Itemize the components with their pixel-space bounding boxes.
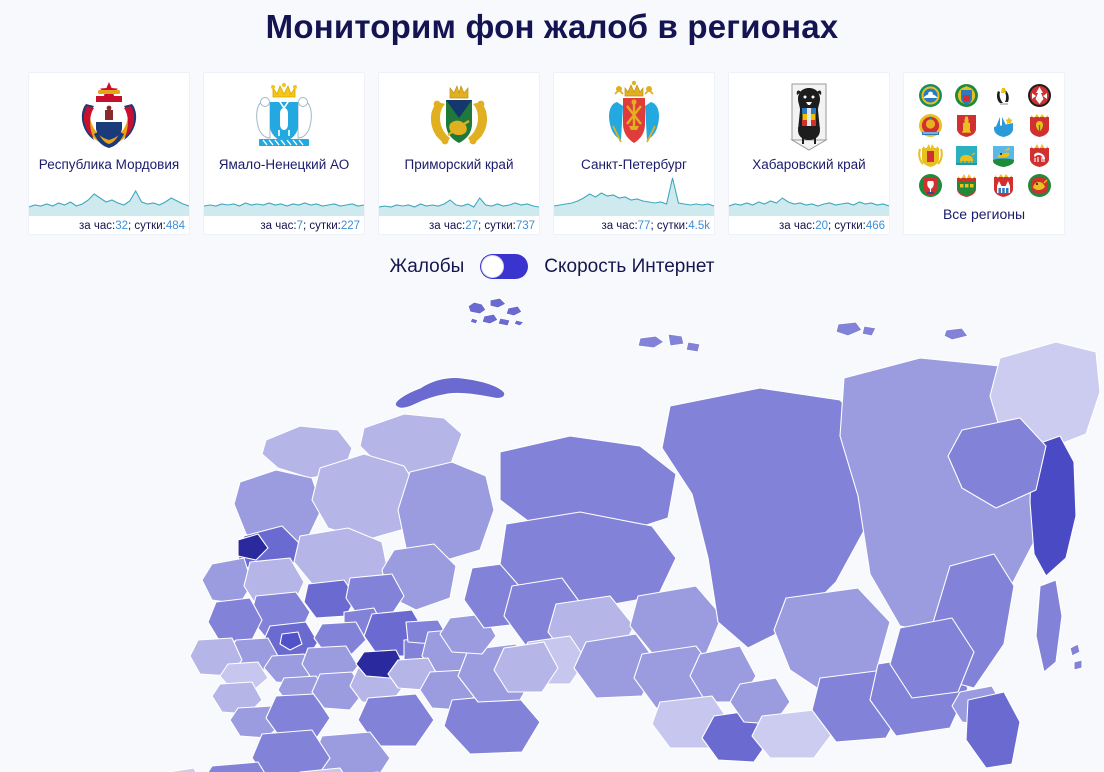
region-card-khabarovsk[interactable]: Хабаровский край за час:20; сутки:466 [728,72,890,235]
stats-hour-label: за час: [79,220,115,232]
all-regions-emblem-grid [914,82,1056,198]
region-card-yanao[interactable]: Ямало-Ненецкий АО за час:7; сутки:227 [203,72,365,235]
sparkline-chart [554,176,714,216]
region-card-stats: за час:7; сутки:227 [260,219,360,234]
sparkline-chart [379,176,539,216]
map-region-primorsky-krai[interactable] [966,692,1020,768]
stats-hour-value: 32 [115,220,128,232]
coat-of-arms-spb-icon [554,79,714,153]
map-region-kuril-islands[interactable] [1070,644,1082,670]
coat-of-arms-murmansk-icon[interactable] [987,112,1020,138]
region-card-primorsky[interactable]: Приморский край за час:27; сутки:737 [378,72,540,235]
coat-of-arms-belgorod-icon[interactable] [987,142,1020,168]
map-region-wrangel[interactable] [944,328,968,340]
page-title: Мониторим фон жалоб в регионах [0,6,1104,48]
coat-of-arms-orenburg-icon[interactable] [951,172,984,198]
coat-of-arms-khabarovsk-icon [729,79,889,153]
coat-of-arms-udmurtia-icon[interactable] [1024,82,1057,108]
region-card-name: Приморский край [379,156,539,173]
map-region-orenburg[interactable] [444,694,540,754]
russia-choropleth-map[interactable] [0,296,1104,772]
metric-toggle-row: Жалобы Скорость Интернет [0,254,1104,279]
region-card-stats: за час:27; сутки:737 [429,219,535,234]
page-root: Мониторим фон жалоб в регионах [0,0,1104,772]
map-region-arctic-islands[interactable] [468,298,524,326]
map-region-sakhalin[interactable] [1036,580,1062,672]
coat-of-arms-tver-icon[interactable] [951,112,984,138]
stats-day-label: ; сутки: [128,220,166,232]
stats-day-value: 484 [166,220,185,232]
stats-day-label: ; сутки: [478,220,516,232]
region-card-mordovia[interactable]: Республика Мордовия за час:32; сутки:484 [28,72,190,235]
region-card-name: Ямало-Ненецкий АО [204,156,364,173]
stats-day-value: 4.5k [688,220,710,232]
coat-of-arms-altai-krai-icon[interactable] [951,82,984,108]
region-cards-strip: Республика Мордовия за час:32; сутки:484 [28,72,1076,237]
toggle-label-complaints[interactable]: Жалобы [390,255,465,279]
coat-of-arms-vladimir-icon[interactable] [914,172,947,198]
sparkline-chart [204,176,364,216]
stats-hour-value: 27 [465,220,478,232]
coat-of-arms-khakassia-icon[interactable] [914,82,947,108]
region-card-name: Республика Мордовия [29,156,189,173]
map-region-crimea[interactable] [146,768,204,772]
stats-day-label: ; сутки: [828,220,866,232]
coat-of-arms-buryatia-icon[interactable] [914,112,947,138]
coat-of-arms-yanao-icon [204,79,364,153]
stats-hour-label: за час: [429,220,465,232]
all-regions-label: Все регионы [904,206,1064,222]
map-region-pskov[interactable] [202,558,252,604]
stats-hour-label: за час: [779,220,815,232]
region-card-name: Санкт-Петербург [554,156,714,173]
map-svg[interactable] [0,296,1104,772]
region-card-stats: за час:32; сутки:484 [79,219,185,234]
region-card-stats: за час:20; сутки:466 [779,219,885,234]
map-region-smolensk[interactable] [208,598,262,642]
stats-hour-label: за час: [601,220,637,232]
coat-of-arms-penza-icon[interactable] [914,142,947,168]
stats-day-value: 737 [516,220,535,232]
coat-of-arms-primorsky-icon [379,79,539,153]
toggle-knob[interactable] [481,255,504,278]
sparkline-chart [29,176,189,216]
stats-day-label: ; сутки: [650,220,688,232]
coat-of-arms-lipetsk-icon[interactable] [1024,112,1057,138]
toggle-label-internet-speed[interactable]: Скорость Интернет [544,255,714,279]
stats-hour-label: за час: [260,220,296,232]
coat-of-arms-mordovia-icon [29,79,189,153]
region-card-spb[interactable]: Санкт-Петербург за час:77; сутки:4.5k [553,72,715,235]
coat-of-arms-khabarovsk-mini-icon[interactable] [951,142,984,168]
coat-of-arms-kaliningrad-icon[interactable] [987,172,1020,198]
sparkline-chart [729,176,889,216]
coat-of-arms-chelyabinsk-icon[interactable] [1024,142,1057,168]
map-region-novosibirsk-islands[interactable] [836,322,876,336]
stats-day-value: 227 [341,220,360,232]
map-region-severnaya-zemlya[interactable] [638,334,700,352]
stats-day-value: 466 [866,220,885,232]
stats-hour-value: 77 [638,220,651,232]
coat-of-arms-yaroslavl-icon[interactable] [987,82,1020,108]
metric-toggle-switch[interactable] [480,254,528,279]
map-region-novaya-zemlya[interactable] [395,377,505,408]
all-regions-card[interactable]: Все регионы [903,72,1065,235]
coat-of-arms-tatarstan-icon[interactable] [1024,172,1057,198]
stats-day-label: ; сутки: [303,220,341,232]
region-card-stats: за час:77; сутки:4.5k [601,219,710,234]
stats-hour-value: 20 [815,220,828,232]
region-card-name: Хабаровский край [729,156,889,173]
